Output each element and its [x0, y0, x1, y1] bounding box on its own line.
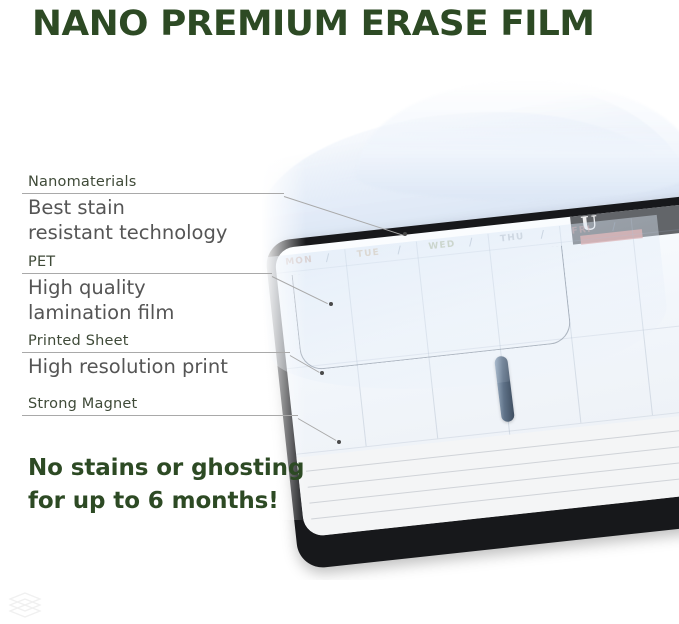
callout-body-line1: High quality: [22, 274, 272, 299]
tagline-line1: No stains or ghosting: [28, 452, 328, 485]
date-slash: [326, 253, 329, 262]
day-label-tue: TUE: [356, 248, 380, 260]
leader-dot-pet: [329, 302, 333, 306]
date-slash: [398, 245, 401, 254]
callout-body-line1: High resolution print: [22, 353, 290, 378]
day-column-divider: [631, 218, 653, 415]
note-line: [306, 428, 679, 472]
leader-dot-strong-magnet: [337, 440, 341, 444]
day-column-divider: [559, 226, 581, 423]
callout-body-line1: Best stain: [22, 194, 284, 219]
callout-body-line2: lamination film: [22, 299, 272, 324]
infographic-canvas: NANO PREMIUM ERASE FILM U: [0, 0, 679, 624]
day-column-divider: [416, 241, 438, 438]
leader-dot-nanomaterials: [403, 232, 407, 236]
day-label-thu: THU: [500, 232, 526, 245]
day-label-fri: FRI: [571, 225, 592, 237]
page-title: NANO PREMIUM ERASE FILM: [32, 2, 679, 46]
callout-label: Printed Sheet: [22, 333, 290, 349]
tagline: No stains or ghosting for up to 6 months…: [28, 452, 328, 518]
callout-label: Nanomaterials: [22, 174, 284, 190]
callout-label: PET: [22, 254, 272, 270]
tagline-line2: for up to 6 months!: [28, 485, 328, 518]
board-face: U MON TUE WED THU FRI SAT SUN: [274, 203, 679, 537]
callout-pet: PET High quality lamination film: [22, 254, 272, 324]
date-slash: [469, 238, 472, 247]
leader-dot-printed-sheet: [320, 371, 324, 375]
callout-rule: [22, 415, 298, 416]
callout-printed-sheet: Printed Sheet High resolution print: [22, 333, 290, 378]
week-divider-rule: [287, 322, 679, 369]
callout-strong-magnet: Strong Magnet: [22, 396, 298, 416]
day-label-wed: WED: [428, 239, 456, 252]
day-column-divider: [344, 249, 366, 446]
callout-label: Strong Magnet: [22, 396, 298, 412]
callout-nanomaterials: Nanomaterials Best stain resistant techn…: [22, 174, 284, 244]
stacked-layers-logo-icon: [8, 592, 42, 618]
date-slash: [541, 230, 544, 239]
callout-body-line2: resistant technology: [22, 219, 284, 244]
day-label-mon: MON: [285, 255, 314, 268]
